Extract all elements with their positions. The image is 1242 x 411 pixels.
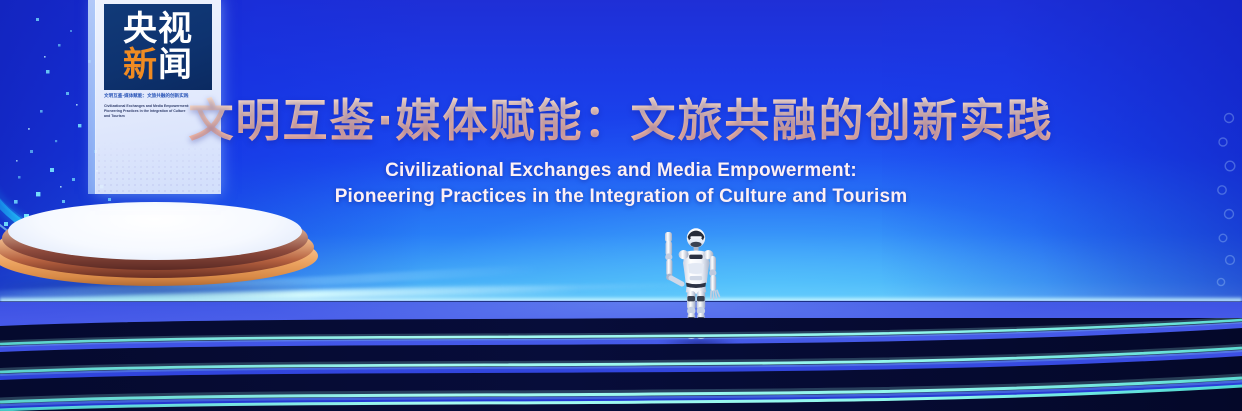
cctv-news-logo: 央 视 新 闻 — [104, 4, 212, 90]
subtitle-line-1: Civilizational Exchanges and Media Empow… — [0, 158, 1242, 184]
broadcast-screenshot: 央 视 新 闻 文明互鉴·媒体赋能：文旅共融的创新实践 Civilization… — [0, 0, 1242, 411]
podium-surface — [8, 202, 302, 260]
logo-line-2: 新 闻 — [123, 48, 193, 82]
logo-char-shi: 视 — [158, 12, 193, 46]
logo-line-1: 央 视 — [123, 12, 193, 46]
stage-steps — [0, 318, 1242, 411]
page-title: 文明互鉴·媒体赋能：文旅共融的创新实践 — [0, 84, 1242, 149]
logo-char-wen: 闻 — [158, 48, 193, 82]
page-subtitle: Civilizational Exchanges and Media Empow… — [0, 158, 1242, 210]
logo-char-xin: 新 — [123, 48, 158, 82]
logo-char-yang: 央 — [123, 12, 158, 46]
sky-right-wash — [882, 0, 1242, 300]
subtitle-line-2: Pioneering Practices in the Integration … — [0, 184, 1242, 210]
